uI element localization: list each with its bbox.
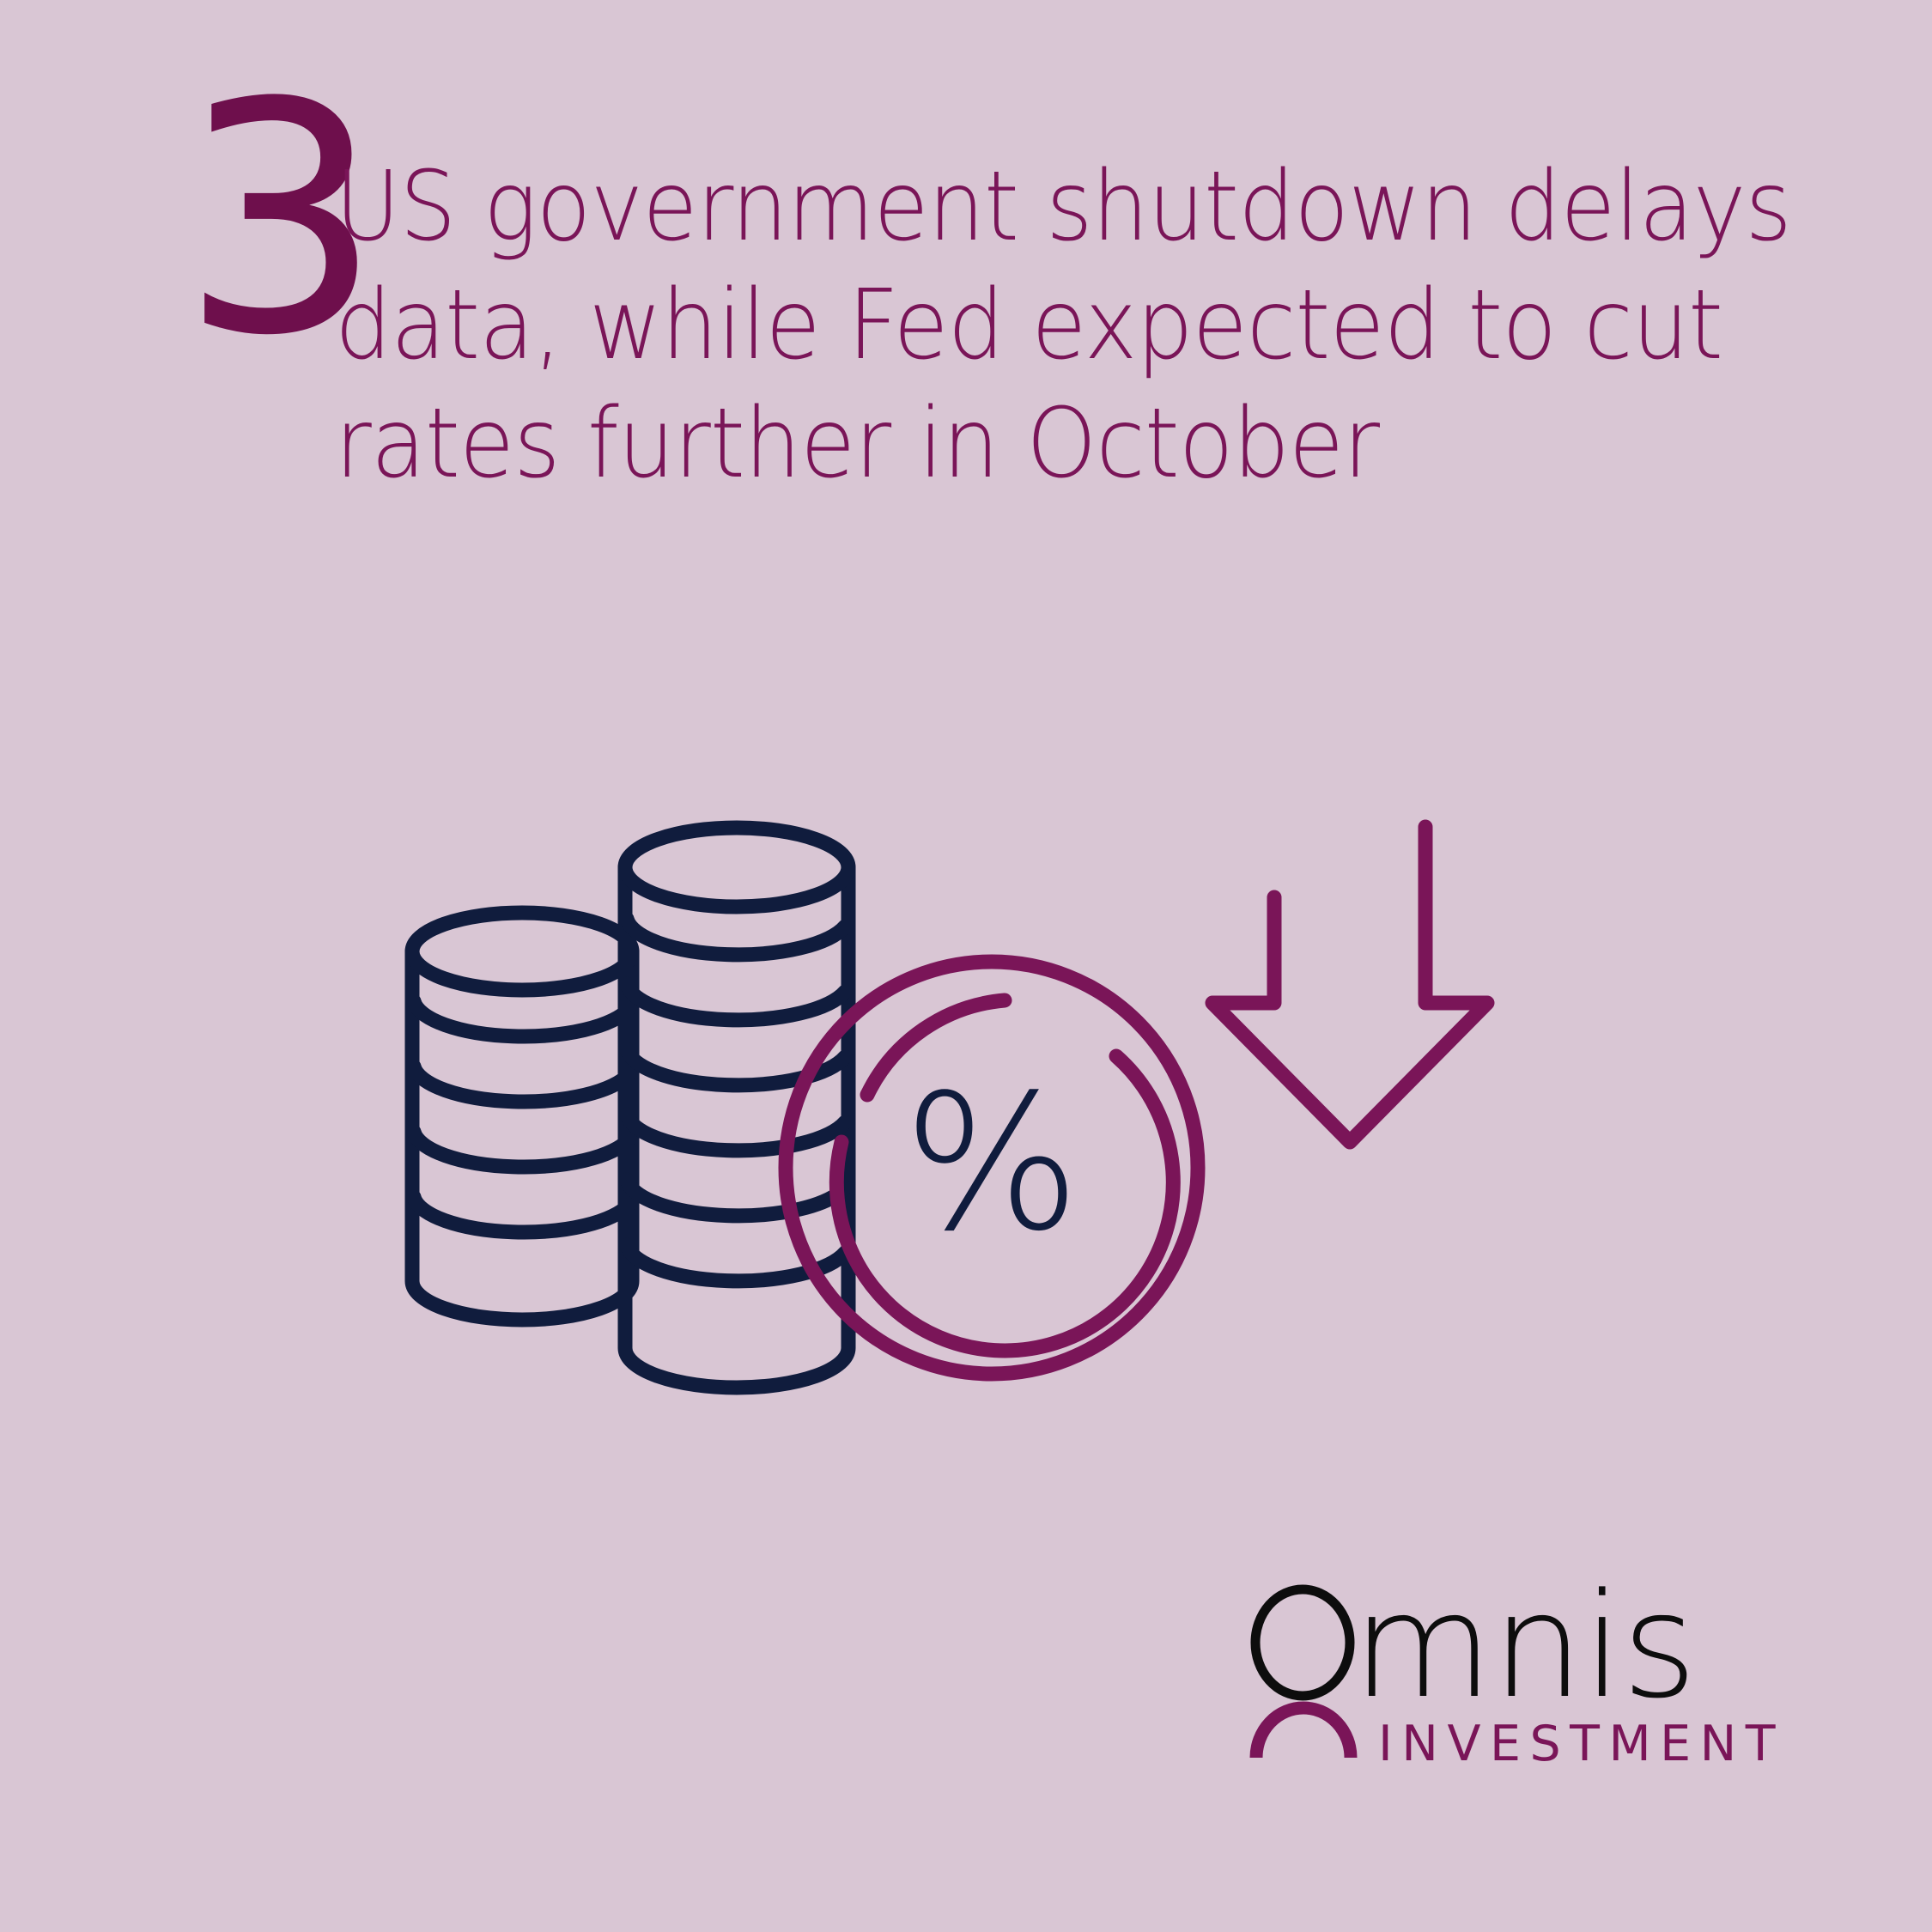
percent-symbol: % xyxy=(902,1055,1080,1273)
headline-line-3: rates further in October xyxy=(335,386,1791,504)
headline-block: 3 US government shutdown delays data, wh… xyxy=(180,142,1777,503)
illustration-coins-percent-arrow: % xyxy=(404,799,1537,1451)
coin-stack-short-icon xyxy=(412,913,632,1320)
logo-arc-icon xyxy=(1256,1708,1351,1758)
omnis-investments-logo: mnis INVESTMENTS xyxy=(1249,1576,1782,1799)
social-card: 3 US government shutdown delays data, wh… xyxy=(0,0,1932,1932)
logo-o-ring-icon xyxy=(1255,1589,1350,1696)
coin-stack-tall-icon xyxy=(625,828,848,1388)
rank-number: 3 xyxy=(180,97,335,345)
logo-tagline: INVESTMENTS xyxy=(1378,1716,1782,1772)
headline-line-2: data, while Fed expected to cut xyxy=(335,267,1791,386)
headline-text: US government shutdown delays data, whil… xyxy=(335,142,1901,503)
headline-line-1: US government shutdown delays xyxy=(335,149,1791,267)
logo-wordmark: mnis xyxy=(1352,1576,1696,1730)
down-arrow-icon xyxy=(1212,827,1487,1142)
